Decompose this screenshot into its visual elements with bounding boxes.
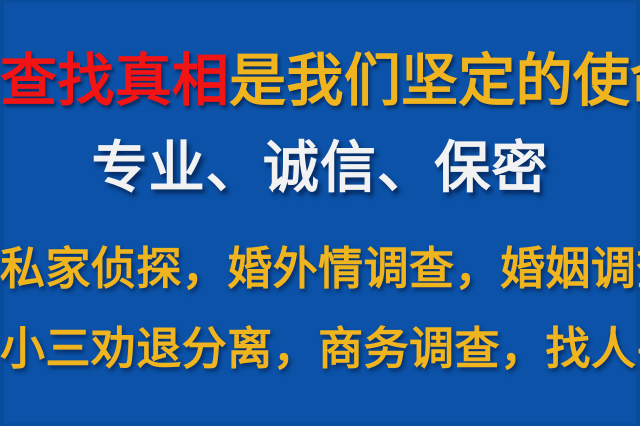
headline: 查找真相是我们坚定的使命 [0, 52, 640, 109]
headline-emphasis: 查找真相 [0, 47, 229, 114]
motto: 专业、诚信、保密 [0, 140, 640, 196]
headline-rest: 是我们坚定的使命 [229, 47, 640, 114]
services-line-2: 小三劝退分离，商务调查，找人寻人 [0, 326, 640, 371]
services-line-1: 私家侦探，婚外情调查，婚姻调查， [0, 246, 640, 291]
banner-top-edge [0, 0, 640, 3]
promo-banner: 查找真相是我们坚定的使命 专业、诚信、保密 私家侦探，婚外情调查，婚姻调查， 小… [0, 0, 640, 426]
